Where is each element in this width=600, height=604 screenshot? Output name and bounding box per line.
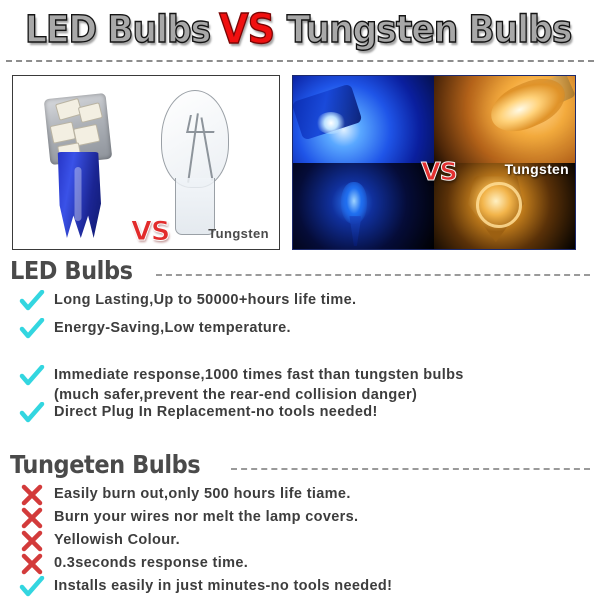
- bulb-glass-envelope: [161, 90, 229, 188]
- title-tungsten-bulbs: Tungsten Bulbs: [287, 11, 572, 48]
- list-item-label: Burn your wires nor melt the lamp covers…: [54, 507, 358, 528]
- photo-panels: VS Tungsten VS Tungsten: [12, 75, 588, 250]
- list-item: Immediate response,1000 times fast than …: [10, 365, 590, 405]
- check-mark-icon: [10, 576, 54, 602]
- list-item: Energy-Saving,Low temperature.: [10, 318, 590, 344]
- list-item-label: 0.3seconds response time.: [54, 553, 248, 574]
- led-glow: [316, 112, 346, 134]
- tungsten-lit-top-quadrant: [434, 76, 575, 163]
- vs-badge-right: VS: [421, 157, 456, 186]
- list-item-label: Direct Plug In Replacement-no tools need…: [54, 402, 378, 423]
- vs-badge-left: VS: [131, 216, 169, 247]
- spacer: [10, 346, 590, 365]
- led-chip: [50, 121, 76, 143]
- list-item-label: Energy-Saving,Low temperature.: [54, 318, 291, 339]
- led-lit-top-quadrant: [293, 76, 434, 163]
- tungsten-drawbacks-list: Easily burn out,only 500 hours life tiam…: [10, 484, 590, 602]
- illumination-comparison-photo: VS Tungsten: [292, 75, 576, 250]
- list-item: Long Lasting,Up to 50000+hours life time…: [10, 290, 590, 316]
- filament-wire: [186, 115, 218, 133]
- led-lit-bottom-quadrant: [293, 163, 434, 250]
- list-item-label: Immediate response,1000 times fast than …: [54, 365, 464, 386]
- led-chip: [78, 102, 103, 123]
- tungsten-caption-right: Tungsten: [505, 161, 569, 177]
- list-item: Direct Plug In Replacement-no tools need…: [10, 402, 590, 428]
- product-comparison-photo: VS Tungsten: [12, 75, 280, 250]
- led-benefits-list: Long Lasting,Up to 50000+hours life time…: [10, 290, 590, 428]
- tungsten-section-title: Tungeten Bulbs: [10, 452, 200, 477]
- tungsten-bulbs-section: Tungeten Bulbs Easily burn out,only 500 …: [10, 452, 590, 604]
- section-divider: [156, 274, 590, 276]
- list-item-label: Yellowish Colour.: [54, 530, 180, 551]
- blue-led-bulb-image: [41, 88, 113, 238]
- tungsten-caption-left: Tungsten: [208, 226, 269, 241]
- check-mark-icon: [10, 365, 54, 391]
- list-item-text-group: Immediate response,1000 times fast than …: [54, 365, 464, 405]
- check-mark-icon: [10, 290, 54, 316]
- led-blue-base: [55, 152, 101, 238]
- led-section-header: LED Bulbs: [10, 258, 590, 283]
- section-divider: [231, 468, 590, 470]
- tungsten-ring: [476, 182, 522, 228]
- page-title: LED BulbsVSTungsten Bulbs: [0, 6, 600, 52]
- infographic-page: LED BulbsVSTungsten Bulbs: [0, 0, 600, 600]
- tungsten-section-header: Tungeten Bulbs: [10, 452, 590, 477]
- check-mark-icon: [10, 402, 54, 428]
- title-divider: [6, 60, 594, 62]
- led-section-title: LED Bulbs: [10, 258, 133, 283]
- title-led-bulbs: LED Bulbs: [25, 11, 210, 48]
- list-item-label: Long Lasting,Up to 50000+hours life time…: [54, 290, 356, 311]
- title-vs: VS: [219, 9, 274, 50]
- led-bulb-stem: [349, 216, 361, 246]
- check-mark-icon: [10, 318, 54, 344]
- list-item-label: Installs easily in just minutes-no tools…: [54, 576, 392, 597]
- list-item: Installs easily in just minutes-no tools…: [10, 576, 590, 602]
- led-bulbs-section: LED Bulbs Long Lasting,Up to 50000+hours…: [10, 258, 590, 430]
- tungsten-bulb-glow: [483, 76, 572, 141]
- list-item-label: Easily burn out,only 500 hours life tiam…: [54, 484, 351, 505]
